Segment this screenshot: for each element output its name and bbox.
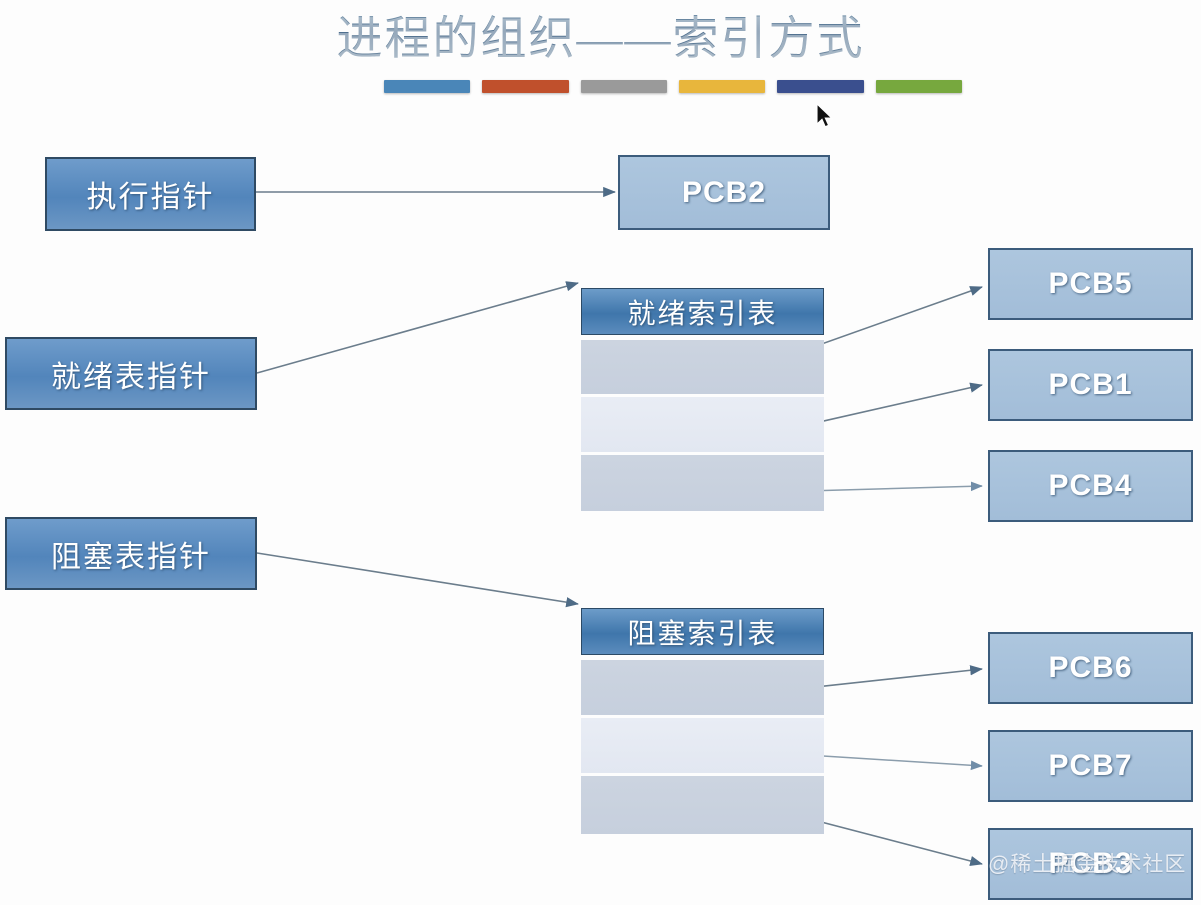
pcb-box-pcb5[interactable]: PCB5 <box>988 248 1193 320</box>
accent-bar-navy <box>777 80 863 93</box>
table-row-blocked-1[interactable] <box>581 660 824 715</box>
accent-bar-row <box>384 80 962 94</box>
table-row-blocked-2[interactable] <box>581 718 824 773</box>
pcb-box-pcb5-label: PCB5 <box>1048 267 1132 301</box>
pcb-box-pcb4[interactable]: PCB4 <box>988 450 1193 522</box>
pointer-box-ready-label: 就绪表指针 <box>51 352 211 396</box>
table-header-blocked-index-label: 阻塞索引表 <box>627 612 777 652</box>
pcb-box-pcb2[interactable]: PCB2 <box>618 155 830 230</box>
connector-blocked-to-blocked-table <box>257 553 578 604</box>
accent-bar-gray <box>581 80 667 93</box>
pcb-box-pcb6-label: PCB6 <box>1048 651 1132 685</box>
page-title: 进程的组织——索引方式 <box>0 2 1201 68</box>
accent-bar-blue <box>384 80 470 93</box>
accent-bar-gold <box>679 80 765 93</box>
table-header-blocked-index: 阻塞索引表 <box>581 608 824 655</box>
pcb-box-pcb7-label: PCB7 <box>1048 749 1132 783</box>
table-row-ready-1[interactable] <box>581 340 824 394</box>
watermark: @稀土掘金技术社区 <box>988 848 1186 878</box>
pcb-box-pcb2-label: PCB2 <box>682 176 766 210</box>
accent-bar-green <box>876 80 962 93</box>
pointer-box-blocked-label: 阻塞表指针 <box>51 532 211 576</box>
pointer-box-running-label: 执行指针 <box>87 172 215 216</box>
pcb-box-pcb7[interactable]: PCB7 <box>988 730 1193 802</box>
pcb-box-pcb1[interactable]: PCB1 <box>988 349 1193 421</box>
table-header-ready-index-label: 就绪索引表 <box>627 292 777 332</box>
pointer-box-blocked[interactable]: 阻塞表指针 <box>5 517 257 590</box>
pcb-box-pcb1-label: PCB1 <box>1048 368 1132 402</box>
table-row-ready-2[interactable] <box>581 397 824 452</box>
pcb-box-pcb6[interactable]: PCB6 <box>988 632 1193 704</box>
table-row-blocked-3[interactable] <box>581 776 824 834</box>
pointer-box-ready[interactable]: 就绪表指针 <box>5 337 257 410</box>
pcb-box-pcb4-label: PCB4 <box>1048 469 1132 503</box>
table-header-ready-index: 就绪索引表 <box>581 288 824 335</box>
pointer-box-running[interactable]: 执行指针 <box>45 157 256 231</box>
table-row-ready-3[interactable] <box>581 455 824 511</box>
mouse-pointer-icon <box>816 103 836 131</box>
connector-ready-to-ready-table <box>257 283 578 373</box>
accent-bar-orange <box>482 80 568 93</box>
slide-canvas: 进程的组织——索引方式 <box>0 0 1201 905</box>
